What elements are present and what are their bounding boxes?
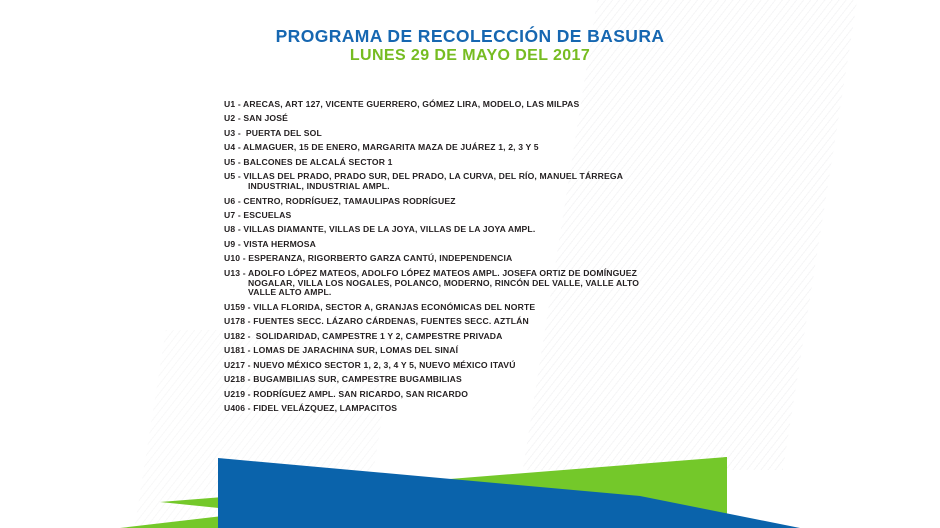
slide-header: PROGRAMA DE RECOLECCIÓN DE BASURA LUNES …	[0, 26, 940, 65]
bottom-decoration	[0, 428, 940, 528]
route-list-item: U5 - BALCONES DE ALCALÁ SECTOR 1	[224, 158, 724, 168]
route-list-item: U5 - VILLAS DEL PRADO, PRADO SUR, DEL PR…	[224, 172, 724, 191]
route-list-item: U13 - ADOLFO LÓPEZ MATEOS, ADOLFO LÓPEZ …	[224, 269, 724, 298]
route-list-item: U9 - VISTA HERMOSA	[224, 240, 724, 250]
route-list-item: U4 - ALMAGUER, 15 DE ENERO, MARGARITA MA…	[224, 143, 724, 153]
route-line-primary: U2 - SAN JOSÉ	[224, 113, 288, 123]
route-line-primary: U159 - VILLA FLORIDA, SECTOR A, GRANJAS …	[224, 302, 535, 312]
page-subtitle: LUNES 29 DE MAYO DEL 2017	[0, 46, 940, 65]
route-line-continuation: VALLE ALTO AMPL.	[224, 288, 724, 298]
route-line-primary: U7 - ESCUELAS	[224, 210, 291, 220]
route-line-primary: U182 - SOLIDARIDAD, CAMPESTRE 1 Y 2, CAM…	[224, 331, 503, 341]
route-line-primary: U8 - VILLAS DIAMANTE, VILLAS DE LA JOYA,…	[224, 224, 535, 234]
route-line-primary: U3 - PUERTA DEL SOL	[224, 128, 322, 138]
route-line-primary: U1 - ARECAS, ART 127, VICENTE GUERRERO, …	[224, 99, 579, 109]
route-line-primary: U5 - BALCONES DE ALCALÁ SECTOR 1	[224, 157, 393, 167]
route-list-item: U6 - CENTRO, RODRÍGUEZ, TAMAULIPAS RODRÍ…	[224, 197, 724, 207]
route-list-item: U8 - VILLAS DIAMANTE, VILLAS DE LA JOYA,…	[224, 225, 724, 235]
route-list-item: U217 - NUEVO MÉXICO SECTOR 1, 2, 3, 4 Y …	[224, 361, 724, 371]
page-title: PROGRAMA DE RECOLECCIÓN DE BASURA	[0, 26, 940, 46]
route-line-primary: U9 - VISTA HERMOSA	[224, 239, 316, 249]
route-list-item: U219 - RODRÍGUEZ AMPL. SAN RICARDO, SAN …	[224, 390, 724, 400]
route-line-continuation: INDUSTRIAL, INDUSTRIAL AMPL.	[224, 182, 724, 192]
route-line-primary: U4 - ALMAGUER, 15 DE ENERO, MARGARITA MA…	[224, 142, 539, 152]
route-list-item: U218 - BUGAMBILIAS SUR, CAMPESTRE BUGAMB…	[224, 375, 724, 385]
route-list-item: U406 - FIDEL VELÁZQUEZ, LAMPACITOS	[224, 404, 724, 414]
route-list-item: U10 - ESPERANZA, RIGORBERTO GARZA CANTÚ,…	[224, 254, 724, 264]
route-list-item: U182 - SOLIDARIDAD, CAMPESTRE 1 Y 2, CAM…	[224, 332, 724, 342]
route-list-item: U3 - PUERTA DEL SOL	[224, 129, 724, 139]
route-line-primary: U181 - LOMAS DE JARACHINA SUR, LOMAS DEL…	[224, 345, 458, 355]
route-list-item: U159 - VILLA FLORIDA, SECTOR A, GRANJAS …	[224, 303, 724, 313]
route-line-primary: U6 - CENTRO, RODRÍGUEZ, TAMAULIPAS RODRÍ…	[224, 196, 456, 206]
route-line-primary: U178 - FUENTES SECC. LÁZARO CÁRDENAS, FU…	[224, 316, 529, 326]
route-line-primary: U217 - NUEVO MÉXICO SECTOR 1, 2, 3, 4 Y …	[224, 360, 516, 370]
route-list-item: U1 - ARECAS, ART 127, VICENTE GUERRERO, …	[224, 100, 724, 110]
route-list-item: U178 - FUENTES SECC. LÁZARO CÁRDENAS, FU…	[224, 317, 724, 327]
route-list-item: U7 - ESCUELAS	[224, 211, 724, 221]
route-line-primary: U218 - BUGAMBILIAS SUR, CAMPESTRE BUGAMB…	[224, 374, 462, 384]
route-list-item: U181 - LOMAS DE JARACHINA SUR, LOMAS DEL…	[224, 346, 724, 356]
collection-route-list: U1 - ARECAS, ART 127, VICENTE GUERRERO, …	[224, 100, 724, 418]
route-line-primary: U10 - ESPERANZA, RIGORBERTO GARZA CANTÚ,…	[224, 253, 512, 263]
route-line-primary: U219 - RODRÍGUEZ AMPL. SAN RICARDO, SAN …	[224, 389, 468, 399]
route-list-item: U2 - SAN JOSÉ	[224, 114, 724, 124]
slide-canvas: PROGRAMA DE RECOLECCIÓN DE BASURA LUNES …	[0, 0, 940, 528]
route-line-primary: U406 - FIDEL VELÁZQUEZ, LAMPACITOS	[224, 403, 397, 413]
route-line-primary: U13 - ADOLFO LÓPEZ MATEOS, ADOLFO LÓPEZ …	[224, 268, 637, 278]
route-line-primary: U5 - VILLAS DEL PRADO, PRADO SUR, DEL PR…	[224, 171, 623, 181]
